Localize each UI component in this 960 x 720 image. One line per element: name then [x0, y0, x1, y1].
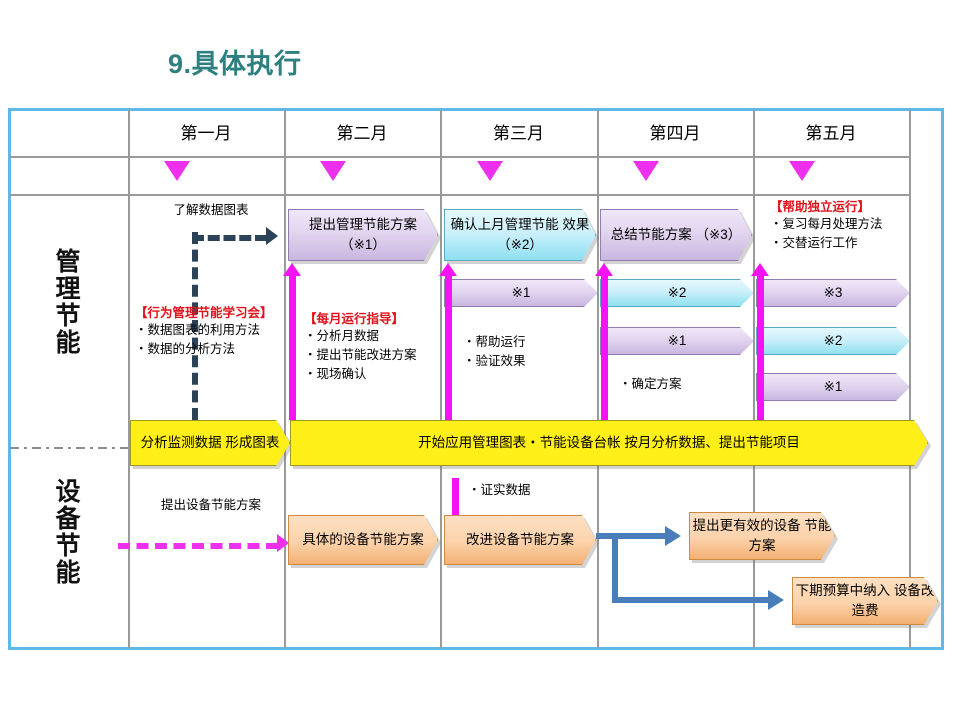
down-triangle-icon-1	[164, 161, 190, 181]
grid-vline-5	[909, 110, 911, 648]
m5-callout-head: 【帮助独立运行】	[770, 198, 870, 217]
row-label-management: 管理节能	[48, 248, 84, 356]
blue-connector-branch-top	[612, 533, 667, 539]
dashed-connector-arrowhead	[266, 227, 278, 245]
grid-vline-2	[440, 110, 442, 648]
eq-magenta-dashed-arrowhead	[277, 534, 289, 552]
m1-note-title: 了解数据图表	[146, 201, 276, 220]
banner-left: 分析监测数据 形成图表	[130, 420, 290, 466]
m4-notes: ・确定方案	[619, 375, 682, 394]
month-header-3: 第三月	[440, 112, 597, 156]
m5-band-3: ※1	[756, 373, 910, 401]
grid-hline-header	[10, 156, 909, 158]
eq-m1-note: 提出设备节能方案	[146, 496, 276, 515]
banner-right: 开始应用管理图表・节能设备台帐 按月分析数据、提出节能项目	[290, 420, 928, 466]
grid-vline-1	[284, 110, 286, 648]
m5-callout-body: ・复习每月处理方法 ・交替运行工作	[770, 215, 883, 253]
slide-canvas: 9.具体执行 第一月 第二月 第三月 第四月 第五月 管理节能 设备节能 了解数…	[0, 0, 960, 720]
down-triangle-icon-3	[477, 161, 503, 181]
page-title: 9.具体执行	[168, 42, 302, 81]
month-header-5: 第五月	[753, 112, 909, 156]
month-header-2: 第二月	[284, 112, 440, 156]
m3-notes: ・帮助运行 ・验证效果	[463, 333, 526, 371]
month-header-1: 第一月	[128, 112, 284, 156]
eq-m2-chevron: 具体的设备节能方案	[288, 515, 438, 565]
m5-band-1: ※3	[756, 279, 910, 307]
down-triangle-icon-5	[789, 161, 815, 181]
dashed-connector-horizontal	[192, 235, 267, 241]
m3-magenta-arrow	[445, 275, 452, 420]
m4-band-1: ※2	[600, 279, 754, 307]
m5-magenta-arrow	[757, 275, 764, 420]
m1-callout-body: ・数据图表的利用方法 ・数据的分析方法	[135, 321, 260, 359]
eq-m4-chevron: 提出更有效的设备 节能方案	[689, 512, 835, 560]
blue-connector-arrow-bottom	[768, 590, 784, 610]
row-label-equipment: 设备节能	[48, 478, 84, 586]
m1-callout-head: 【行为管理节能学习会】	[135, 304, 273, 323]
m4-band-2: ※1	[600, 327, 754, 355]
m5-band-2: ※2	[756, 327, 910, 355]
eq-m3-chevron: 改进设备节能方案	[444, 515, 596, 565]
grid-vline-3	[597, 110, 599, 648]
m3-chevron: 确认上月管理节能 效果（※2）	[444, 209, 596, 261]
blue-connector-arrow-top	[665, 526, 681, 546]
m2-magenta-arrow	[289, 275, 296, 420]
eq-magenta-dashed-line	[118, 543, 278, 549]
m2-callout-head: 【每月运行指导】	[304, 310, 404, 329]
row-divider	[10, 447, 128, 449]
down-triangle-icon-4	[633, 161, 659, 181]
down-triangle-icon-2	[320, 161, 346, 181]
eq-m3-note: ・证实数据	[468, 481, 531, 500]
eq-m5-chevron: 下期预算中纳入 设备改造费	[792, 577, 938, 625]
blue-connector-trunk	[612, 533, 618, 603]
m2-chevron: 提出管理节能方案 （※1）	[288, 209, 438, 261]
month-header-4: 第四月	[597, 112, 753, 156]
blue-connector-branch-bottom	[612, 597, 770, 603]
eq-m3-magenta-arrow	[452, 478, 459, 516]
grid-hline-marker	[10, 194, 909, 196]
m4-chevron: 总结节能方案 （※3）	[600, 209, 752, 261]
m4-magenta-arrow	[601, 275, 608, 420]
m2-callout-body: ・分析月数据 ・提出节能改进方案 ・现场确认	[304, 327, 417, 383]
grid-vline-4	[753, 110, 755, 648]
grid-vline-0	[128, 110, 130, 648]
m3-band-1: ※1	[444, 279, 598, 307]
